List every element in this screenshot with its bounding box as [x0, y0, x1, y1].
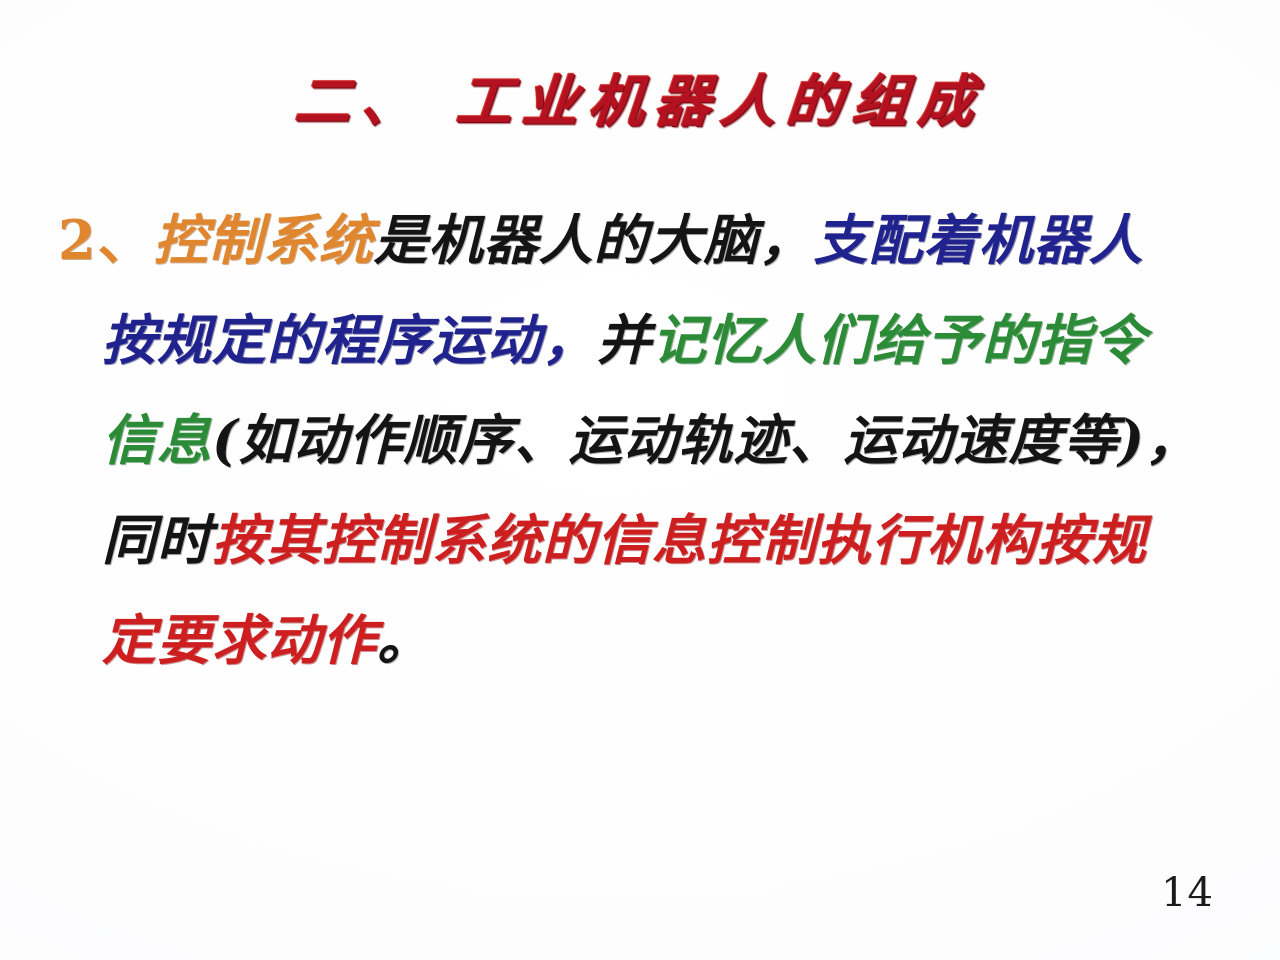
- text-run-orange: 2、: [58, 208, 154, 272]
- text-run-black: (如动作顺序、运动轨迹、运动速度等)，: [212, 408, 1200, 472]
- body-line: 2、控制系统是机器人的大脑，支配着机器人: [58, 190, 1226, 290]
- text-run-red: 定要求动作: [102, 608, 377, 672]
- text-run-green: 信息: [102, 408, 212, 472]
- page-title: 二、 工业机器人的组成: [293, 72, 988, 134]
- page-number: 14: [1161, 870, 1214, 916]
- body-line: 同时按其控制系统的信息控制执行机构按规: [58, 490, 1226, 590]
- text-run-blue: 按规定的程序运动，: [102, 308, 597, 372]
- text-run-green: 记忆人们给予的指令: [652, 308, 1147, 372]
- body-line: 信息(如动作顺序、运动轨迹、运动速度等)，: [58, 390, 1226, 490]
- slide-body: 2、控制系统是机器人的大脑，支配着机器人按规定的程序运动，并记忆人们给予的指令信…: [58, 190, 1226, 690]
- body-line: 定要求动作。: [58, 590, 1226, 690]
- slide-title-band: 二、 工业机器人的组成: [0, 34, 1280, 171]
- text-run-blue: 支配着机器人: [814, 208, 1144, 272]
- text-run-black: 。: [377, 608, 432, 672]
- text-run-black: 并: [597, 308, 652, 372]
- text-run-black: 同时: [102, 508, 212, 572]
- slide-canvas: 二、 工业机器人的组成 2、控制系统是机器人的大脑，支配着机器人按规定的程序运动…: [0, 0, 1280, 960]
- text-run-orange: 控制系统: [154, 208, 374, 272]
- text-run-black: 是机器人的大脑，: [374, 208, 814, 272]
- body-line: 按规定的程序运动，并记忆人们给予的指令: [58, 290, 1226, 390]
- text-run-red: 按其控制系统的信息控制执行机构按规: [212, 508, 1147, 572]
